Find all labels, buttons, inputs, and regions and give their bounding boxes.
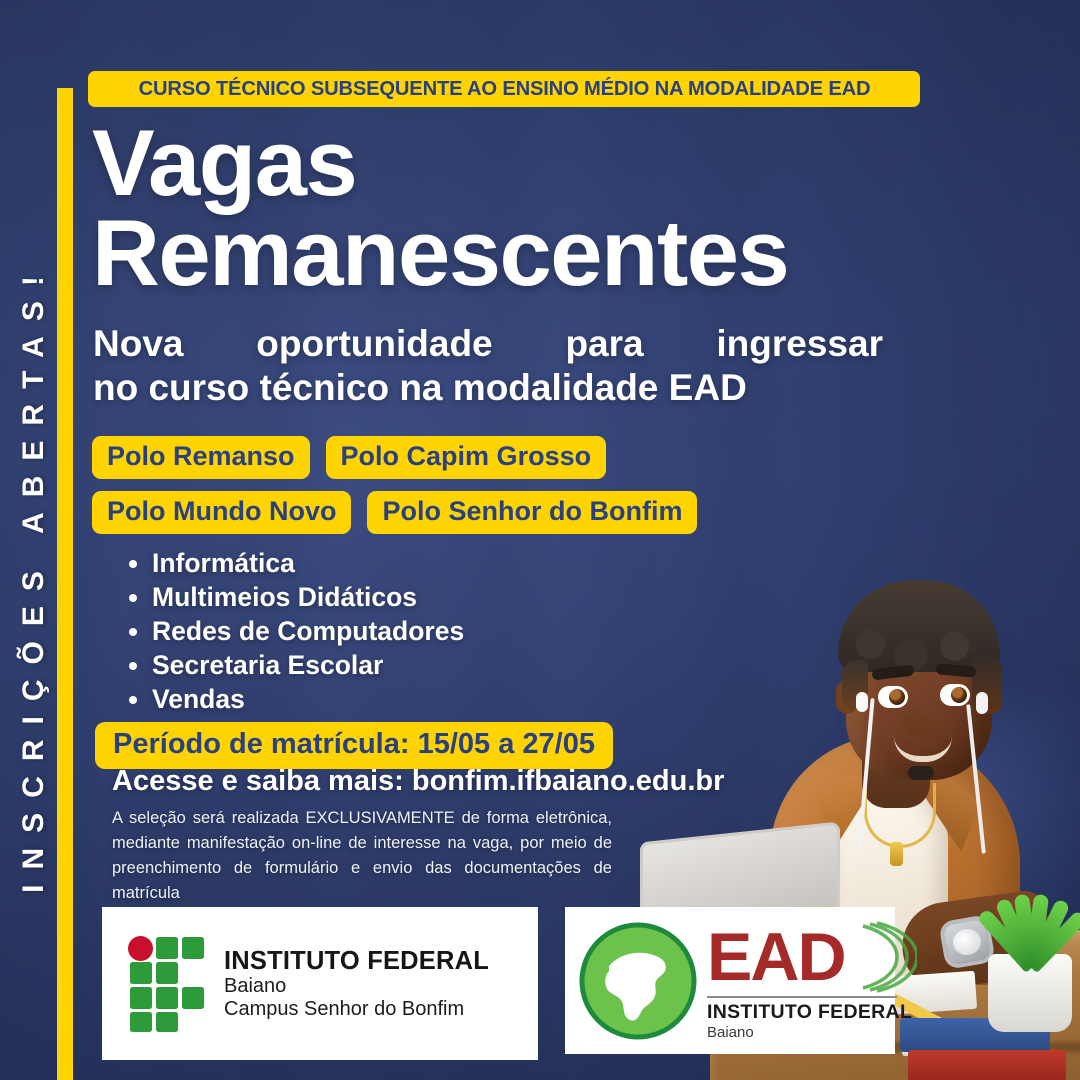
- goatee: [908, 766, 934, 780]
- polo-badge-mundo-novo[interactable]: Polo Mundo Novo: [92, 491, 351, 534]
- page-title-line2: Remanescentes: [92, 208, 922, 298]
- enrollment-period-badge: Período de matrícula: 15/05 a 27/05: [95, 722, 613, 769]
- iris-right: [951, 687, 967, 703]
- side-banner-text: INSCRIÇÕES ABERTAS!: [17, 77, 51, 1077]
- ead-divider: [707, 996, 897, 998]
- ead-logo: EAD INSTITUTO FEDERAL Baiano: [565, 907, 895, 1054]
- earbud-right-icon: [976, 692, 988, 714]
- list-item: Redes de Computadores: [152, 614, 464, 648]
- header-banner-label: CURSO TÉCNICO SUBSEQUENTE AO ENSINO MÉDI…: [138, 77, 870, 101]
- polo-row-2: Polo Mundo Novo Polo Senhor do Bonfim: [92, 491, 792, 534]
- subtitle: Nova oportunidade para ingressar no curs…: [93, 322, 883, 411]
- fine-print-paragraph: A seleção será realizada EXCLUSIVAMENTE …: [112, 806, 612, 906]
- watch-face: [951, 927, 983, 957]
- iris-left: [889, 689, 905, 705]
- list-item: Informática: [152, 546, 464, 580]
- potted-plant-icon: [980, 872, 1076, 968]
- page-title: Vagas Remanescentes: [92, 118, 922, 298]
- necklace-pendant-icon: [890, 842, 903, 866]
- left-yellow-bar: [57, 88, 73, 1080]
- polo-badge-remanso[interactable]: Polo Remanso: [92, 436, 310, 479]
- website-line[interactable]: Acesse e saiba mais: bonfim.ifbaiano.edu…: [112, 765, 724, 798]
- svg-text:EAD: EAD: [707, 920, 845, 994]
- ead-wordmark: EAD INSTITUTO FEDERAL Baiano: [707, 920, 917, 1041]
- eye-left: [878, 686, 908, 708]
- instituto-federal-wordmark: INSTITUTO FEDERAL Baiano Campus Senhor d…: [224, 947, 489, 1020]
- if-logo-line2: Baiano: [224, 975, 489, 997]
- subtitle-line2: no curso técnico na modalidade EAD: [93, 366, 883, 410]
- polo-row-1: Polo Remanso Polo Capim Grosso: [92, 436, 792, 479]
- course-list: Informática Multimeios Didáticos Redes d…: [118, 546, 464, 716]
- if-logo-line1: INSTITUTO FEDERAL: [224, 947, 489, 976]
- polo-badge-senhor-do-bonfim[interactable]: Polo Senhor do Bonfim: [367, 491, 697, 534]
- list-item: Secretaria Escolar: [152, 648, 464, 682]
- if-logo-line3: Campus Senhor do Bonfim: [224, 998, 489, 1020]
- list-item: Vendas: [152, 682, 464, 716]
- ead-acronym-icon: EAD: [707, 920, 917, 994]
- ead-bahia-map-icon: [579, 922, 697, 1040]
- ead-logo-line1: INSTITUTO FEDERAL: [707, 1001, 912, 1024]
- poster-canvas: INSCRIÇÕES ABERTAS! CURSO TÉCNICO SUBSEQ…: [0, 0, 1080, 1080]
- ead-logo-line2: Baiano: [707, 1024, 754, 1041]
- book-red: [908, 1050, 1066, 1080]
- header-banner: CURSO TÉCNICO SUBSEQUENTE AO ENSINO MÉDI…: [88, 71, 920, 107]
- earbud-left-icon: [856, 692, 868, 712]
- nose: [902, 710, 938, 736]
- instituto-federal-logo: INSTITUTO FEDERAL Baiano Campus Senhor d…: [102, 907, 538, 1060]
- list-item: Multimeios Didáticos: [152, 580, 464, 614]
- subtitle-line1: Nova oportunidade para ingressar: [93, 322, 883, 366]
- eye-right: [940, 684, 970, 706]
- polo-badge-capim-grosso[interactable]: Polo Capim Grosso: [326, 436, 607, 479]
- polo-badge-group: Polo Remanso Polo Capim Grosso Polo Mund…: [92, 436, 792, 546]
- instituto-federal-grid-icon: [128, 936, 206, 1032]
